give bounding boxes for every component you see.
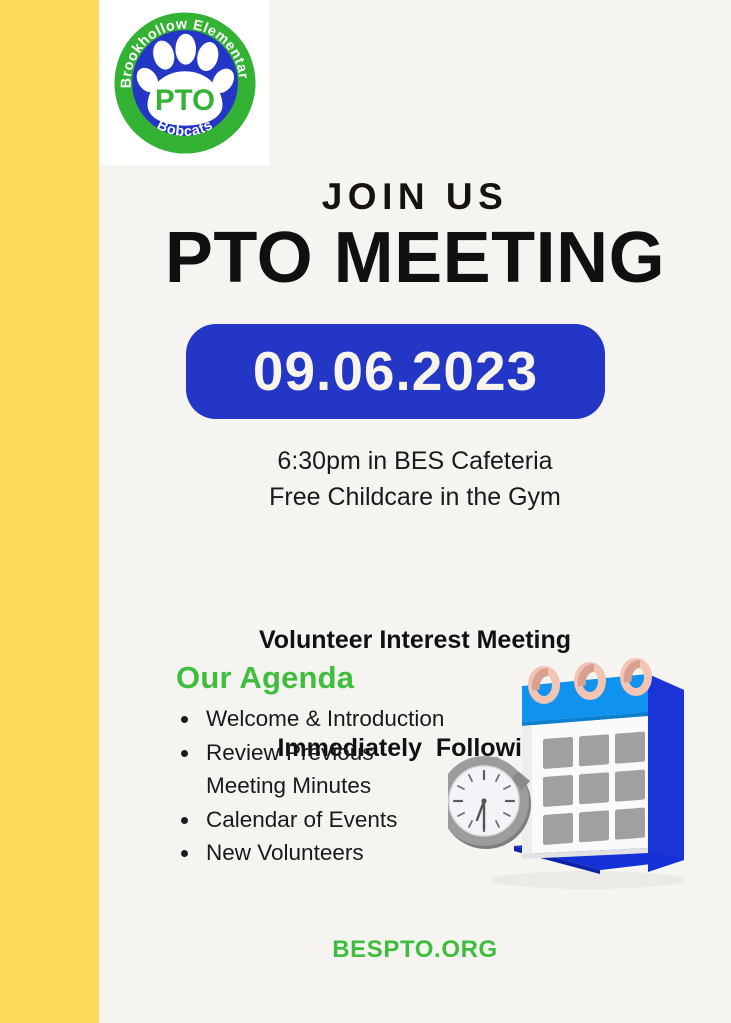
- pto-logo-icon: PTO Brookhollow Elementary Bobcats: [111, 9, 258, 156]
- svg-text:PTO: PTO: [155, 84, 215, 117]
- agenda-item: Welcome & Introduction: [176, 702, 446, 736]
- stopwatch-icon: [448, 756, 531, 849]
- agenda-item: New Volunteers: [176, 836, 446, 870]
- website-url: BESPTO.ORG: [99, 936, 731, 964]
- event-detail-childcare: Free Childcare in the Gym: [99, 479, 731, 515]
- eyebrow-text: JOIN US: [99, 178, 731, 215]
- event-detail-time-location: 6:30pm in BES Cafeteria: [99, 443, 731, 479]
- agenda-heading: Our Agenda: [176, 659, 354, 696]
- page-title: PTO MEETING: [99, 219, 731, 298]
- event-details: 6:30pm in BES Cafeteria Free Childcare i…: [99, 443, 731, 515]
- logo-container: PTO Brookhollow Elementary Bobcats: [100, 0, 269, 165]
- left-yellow-band: [0, 0, 99, 1023]
- agenda-list: Welcome & Introduction Review Previous M…: [176, 702, 446, 870]
- agenda-item: Calendar of Events: [176, 803, 446, 837]
- pto-meeting-flyer: PTO Brookhollow Elementary Bobcats JOIN …: [0, 0, 731, 1023]
- date-badge: 09.06.2023: [186, 324, 605, 419]
- date-badge-text: 09.06.2023: [253, 344, 538, 399]
- agenda-item: Review Previous Meeting Minutes: [176, 736, 446, 803]
- calendar-with-stopwatch-icon: [448, 638, 712, 900]
